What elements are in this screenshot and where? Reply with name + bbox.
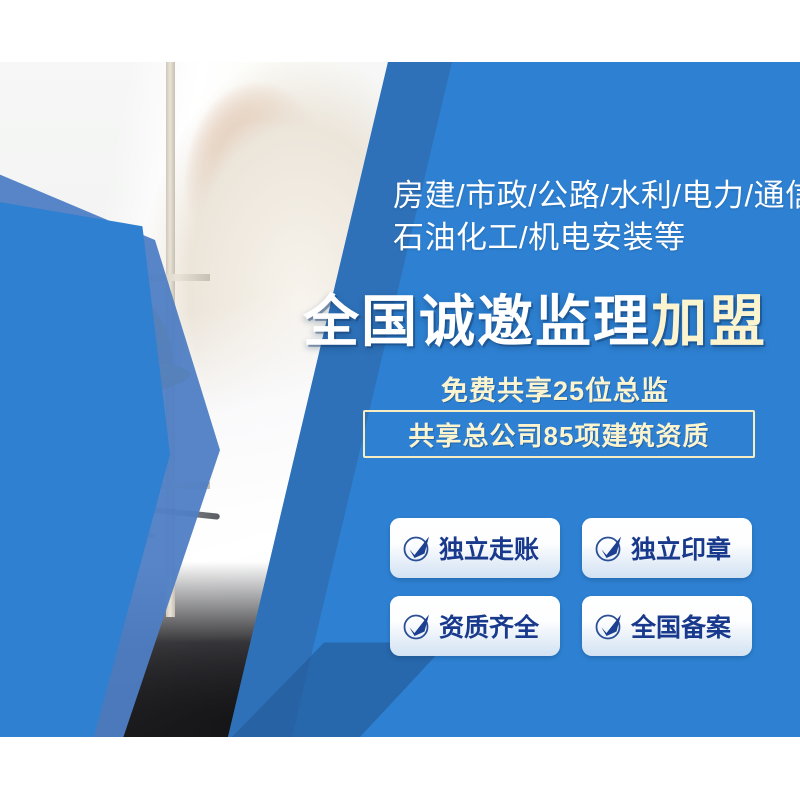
feature-badge-label: 独立走账 <box>439 530 539 566</box>
banner-content: 房建/市政/公路/水利/电力/通信 石油化工/机电安装等 全国诚邀监理加盟 免费… <box>0 62 800 737</box>
feature-badge[interactable]: 资质齐全 <box>390 596 560 656</box>
promotional-banner: 房建/市政/公路/水利/电力/通信 石油化工/机电安装等 全国诚邀监理加盟 免费… <box>0 0 800 800</box>
feature-badge-grid: 独立走账 独立印章 <box>390 518 760 656</box>
category-line-2: 石油化工/机电安装等 <box>393 217 800 259</box>
qualification-highlight-text: 共享总公司85项建筑资质 <box>409 416 710 453</box>
headline-main-text: 全国诚邀监理 <box>303 290 651 353</box>
feature-badge-label: 独立印章 <box>631 530 731 566</box>
category-list: 房建/市政/公路/水利/电力/通信 石油化工/机电安装等 <box>393 175 800 259</box>
feature-badge-label: 全国备案 <box>631 608 731 644</box>
feature-badge[interactable]: 独立印章 <box>582 518 752 578</box>
qualification-highlight-box: 共享总公司85项建筑资质 <box>363 410 755 458</box>
feature-badge-label: 资质齐全 <box>439 608 539 644</box>
category-line-1: 房建/市政/公路/水利/电力/通信 <box>393 175 800 217</box>
page-title: 全国诚邀监理加盟 <box>303 293 767 352</box>
check-circle-icon <box>594 611 624 641</box>
headline-accent-text: 加盟 <box>651 290 767 353</box>
check-circle-icon <box>402 611 432 641</box>
feature-badge[interactable]: 独立走账 <box>390 518 560 578</box>
feature-badge[interactable]: 全国备案 <box>582 596 752 656</box>
check-circle-icon <box>402 533 432 563</box>
check-circle-icon <box>594 533 624 563</box>
banner-artboard: 房建/市政/公路/水利/电力/通信 石油化工/机电安装等 全国诚邀监理加盟 免费… <box>0 62 800 737</box>
subtitle: 免费共享25位总监 <box>441 369 669 408</box>
